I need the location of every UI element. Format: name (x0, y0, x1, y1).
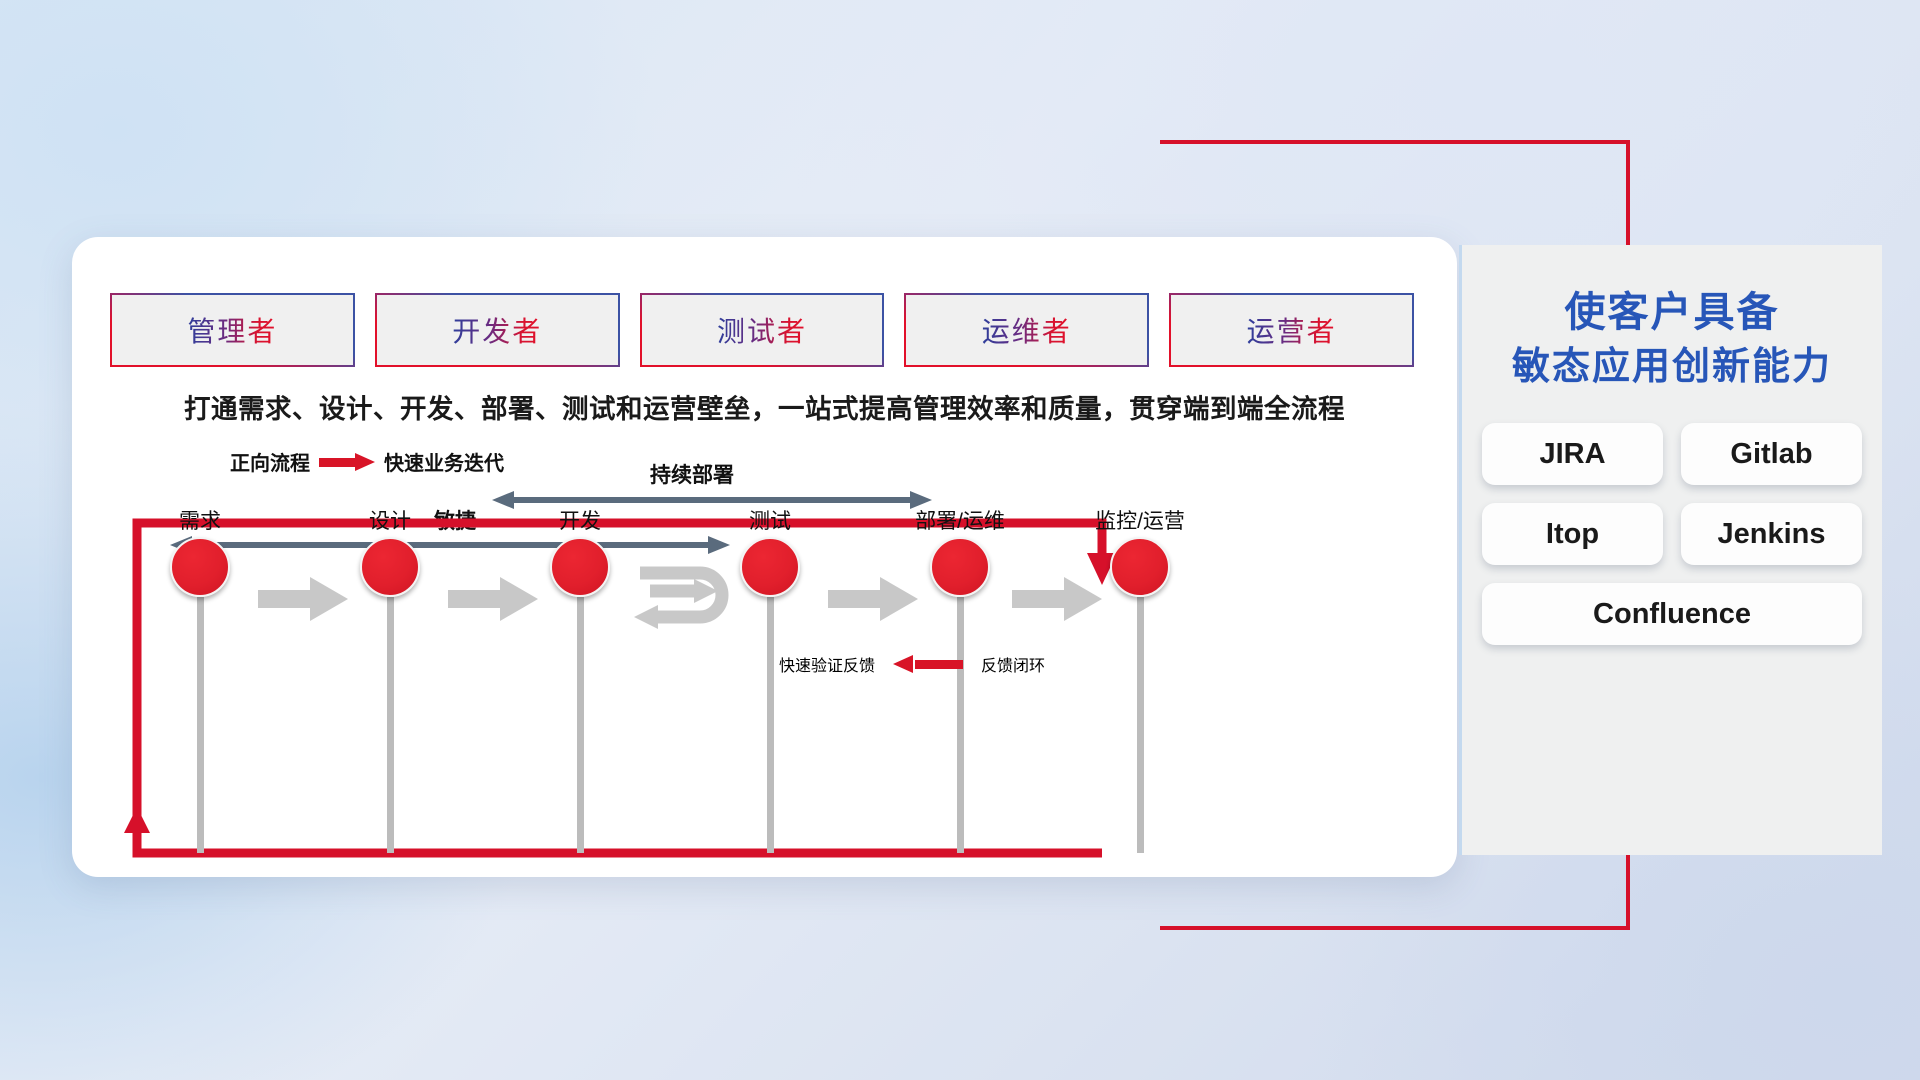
pipeline-node-label: 监控/运营 (1095, 505, 1185, 535)
tool-card-label: Gitlab (1730, 438, 1812, 471)
pipeline-node-dot (550, 537, 610, 597)
devops-flow-card: 管理者 开发者 测试者 运维者 运营者 打通需求、设计、开发、部署、测试和运营壁… (72, 237, 1457, 877)
pipeline-node-dot (740, 537, 800, 597)
node-stem (197, 597, 204, 853)
pipeline-node-dot (930, 537, 990, 597)
tool-card-confluence[interactable]: Confluence (1482, 583, 1862, 645)
feedback-flow-to-label: 反馈闭环 (981, 652, 1045, 676)
tool-card-label: Itop (1546, 518, 1599, 551)
node-stem (767, 597, 774, 853)
tool-card-gitlab[interactable]: Gitlab (1681, 423, 1862, 485)
pipeline-node-label: 设计 (369, 505, 411, 535)
feedback-flow-caption: 快速验证反馈 反馈闭环 (779, 652, 1045, 676)
pipeline-node-label: 测试 (749, 505, 791, 535)
tool-card-label: Confluence (1593, 598, 1751, 631)
left-arrow-icon (893, 655, 963, 673)
feedback-flow-from-label: 快速验证反馈 (779, 652, 875, 676)
tool-card-label: Jenkins (1718, 518, 1826, 551)
tool-card-jira[interactable]: JIRA (1482, 423, 1663, 485)
node-stem (577, 597, 584, 853)
pipeline-nodes: 需求 设计 开发 测试 部署/运维 监控/运营 (72, 505, 1457, 625)
node-stem (1137, 597, 1144, 853)
panel-title-line1: 使客户具备 (1565, 289, 1780, 335)
node-stem (957, 597, 964, 853)
pipeline-node-dot (1110, 537, 1170, 597)
pipeline-node-dot (170, 537, 230, 597)
pipeline-node-label: 部署/运维 (915, 505, 1005, 535)
pipeline-node-dot (360, 537, 420, 597)
pipeline-node-label: 开发 (559, 505, 601, 535)
node-stem (387, 597, 394, 853)
tool-card-label: JIRA (1539, 438, 1605, 471)
pipeline-node-label: 需求 (179, 505, 221, 535)
tool-cards-grid: JIRA Gitlab Itop Jenkins Confluence (1462, 395, 1882, 645)
tool-card-itop[interactable]: Itop (1482, 503, 1663, 565)
red-loop-bottom-return (112, 807, 1142, 877)
pipeline-stage-area: 持续部署 敏捷 (72, 237, 1457, 877)
tools-panel: 使客户具备 敏态应用创新能力 JIRA Gitlab Itop Jenkins … (1462, 245, 1882, 855)
panel-title-line2: 敏态应用创新能力 (1472, 341, 1872, 395)
panel-title: 使客户具备 敏态应用创新能力 (1462, 245, 1882, 395)
tool-card-jenkins[interactable]: Jenkins (1681, 503, 1862, 565)
continuous-deployment-label: 持续部署 (650, 459, 734, 489)
